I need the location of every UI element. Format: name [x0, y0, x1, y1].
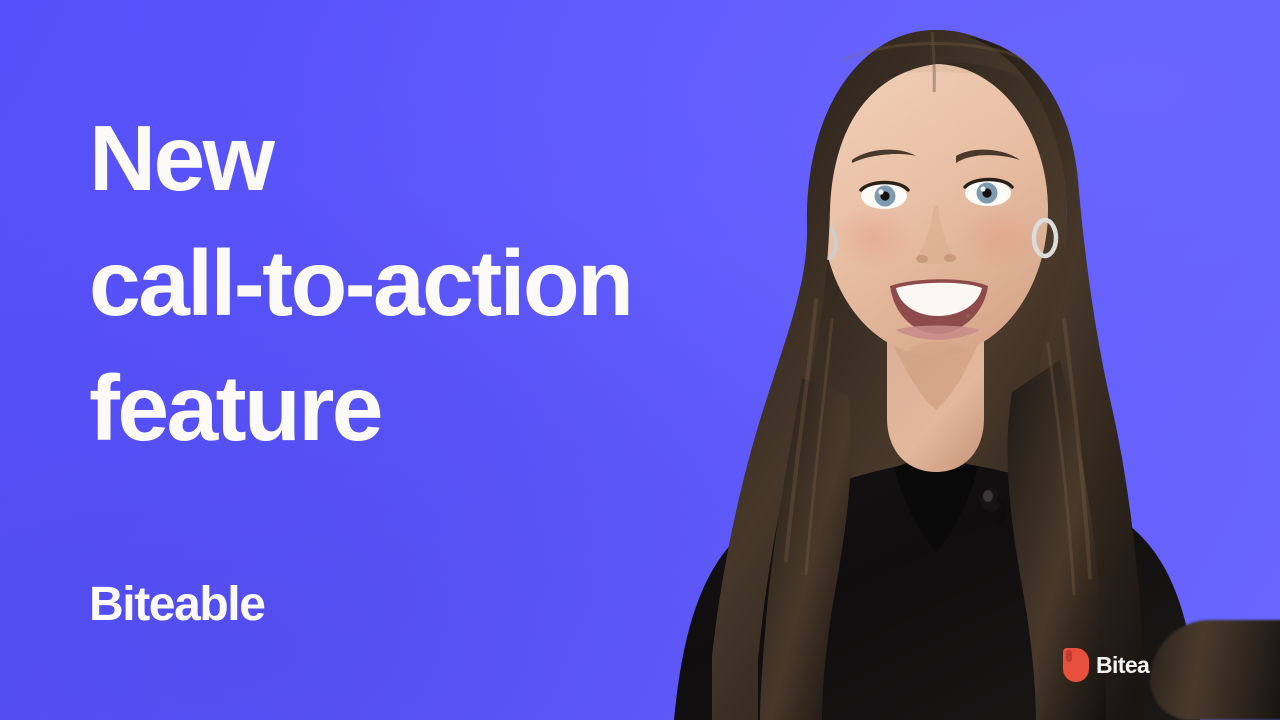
title-line-3: feature — [89, 346, 849, 471]
biteable-b-icon — [1063, 648, 1089, 682]
hair-overlap-mask — [1150, 620, 1280, 720]
video-title-card: Bitea New call-to-action feature Biteabl… — [0, 0, 1280, 720]
shirt-brand-wordmark: Bitea — [1096, 652, 1149, 679]
brand-wordmark: Biteable — [89, 581, 265, 629]
shirt-brand-logo: Bitea — [1063, 648, 1149, 682]
title-line-2: call-to-action — [89, 221, 849, 346]
page-title: New call-to-action feature — [89, 96, 849, 471]
title-line-1: New — [89, 96, 849, 221]
